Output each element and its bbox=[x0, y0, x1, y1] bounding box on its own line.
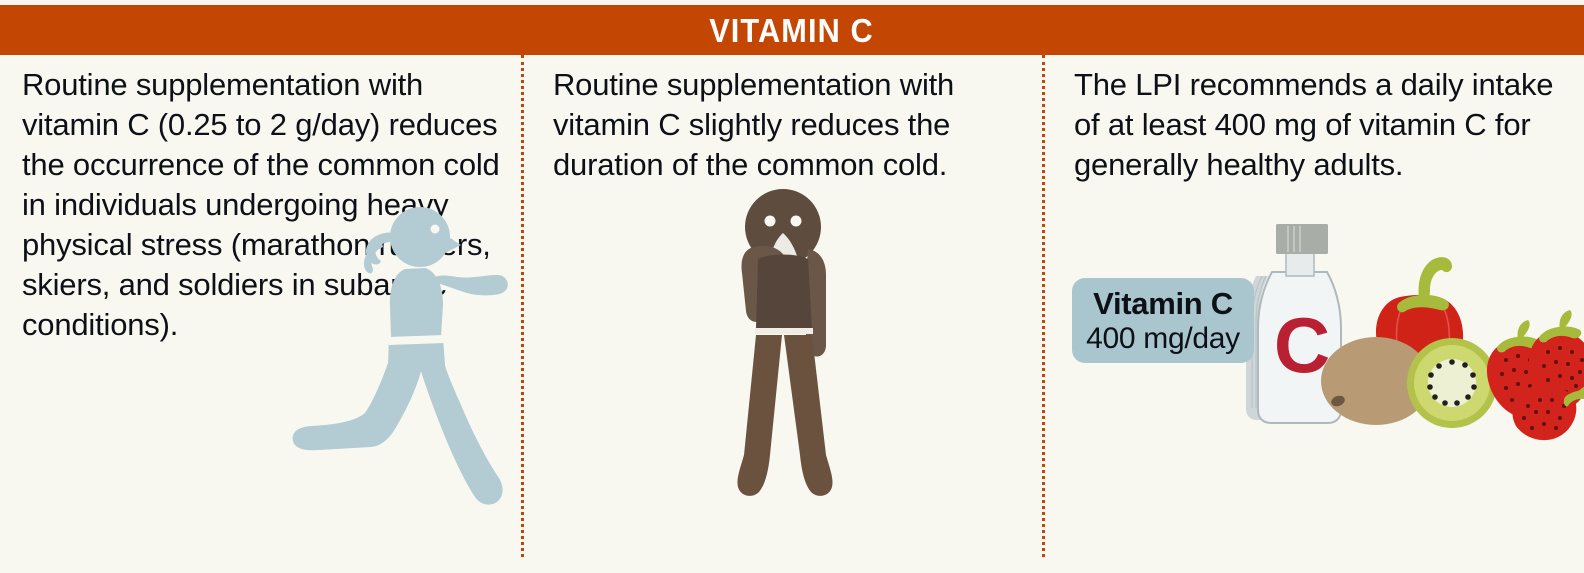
dose-badge-subtitle: 400 mg/day bbox=[1072, 322, 1254, 356]
columns-container: Routine supplementation with vitamin C (… bbox=[0, 55, 1584, 573]
kiwi-half-icon bbox=[1407, 338, 1497, 428]
header-banner: VITAMIN C bbox=[0, 5, 1584, 55]
dose-badge: Vitamin C 400 mg/day bbox=[1072, 278, 1254, 363]
column-3: The LPI recommends a daily intake of at … bbox=[1042, 55, 1584, 573]
running-woman-icon bbox=[285, 195, 520, 525]
page-title: VITAMIN C bbox=[710, 14, 875, 47]
sick-person-with-tissue-icon bbox=[686, 187, 881, 517]
vitamin-c-infographic: VITAMIN C Routine supplementation with v… bbox=[0, 0, 1584, 573]
column-1: Routine supplementation with vitamin C (… bbox=[0, 55, 521, 573]
dose-badge-title: Vitamin C bbox=[1072, 286, 1254, 322]
supplement-bottle-and-produce-icon: Vitamin C 400 mg/day bbox=[1060, 220, 1580, 445]
column-2-text: Routine supplementation with vitamin C s… bbox=[553, 65, 1033, 185]
column-3-text: The LPI recommends a daily intake of at … bbox=[1074, 65, 1574, 185]
column-2: Routine supplementation with vitamin C s… bbox=[521, 55, 1042, 573]
